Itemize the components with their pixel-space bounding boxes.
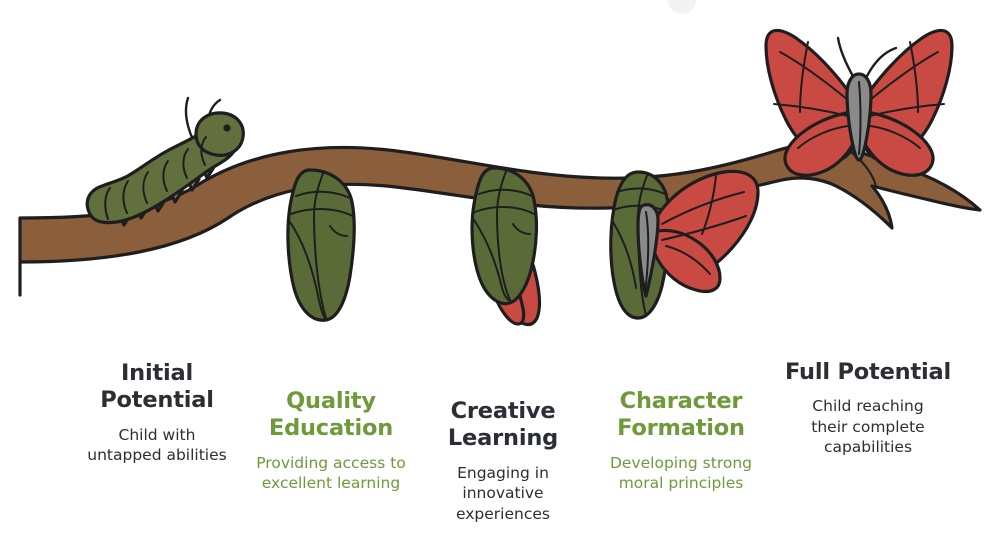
lifecycle-illustration: .ol { stroke:#1E1E1E; stroke-width:3.2; … (0, 0, 1008, 350)
stage-description: Providing access to excellent learning (236, 453, 426, 494)
stage-label-creative-learning: Creative Learning Engaging in innovative… (408, 398, 598, 524)
butterfly-full (766, 30, 952, 175)
stage-label-quality-education: Quality Education Providing access to ex… (236, 388, 426, 494)
stage-description: Engaging in innovative experiences (408, 463, 598, 524)
stage-title: Full Potential (762, 359, 974, 386)
stage-title: Creative Learning (408, 398, 598, 453)
bottom-watermark-artifact (872, 534, 998, 542)
stage-description: Developing strong moral principles (586, 453, 776, 494)
chrysalis-emerging (472, 168, 539, 325)
stage-title: Quality Education (236, 388, 426, 443)
stage-labels: Initial Potential Child with untapped ab… (0, 350, 1008, 546)
stage-description: Child reaching their complete capabiliti… (762, 396, 974, 457)
stage-label-full-potential: Full Potential Child reaching their comp… (762, 359, 974, 458)
lifecycle-svg: .ol { stroke:#1E1E1E; stroke-width:3.2; … (0, 0, 1008, 350)
chrysalis-green (288, 170, 354, 320)
butterfly-hatching (611, 171, 758, 318)
figure-canvas: .ol { stroke:#1E1E1E; stroke-width:3.2; … (0, 0, 1008, 546)
stage-label-character-formation: Character Formation Developing strong mo… (586, 388, 776, 494)
stage-title: Initial Potential (62, 360, 252, 415)
stage-description: Child with untapped abilities (62, 425, 252, 466)
caterpillar-eye (223, 124, 230, 131)
stage-title: Character Formation (586, 388, 776, 443)
stage-label-initial-potential: Initial Potential Child with untapped ab… (62, 360, 252, 466)
